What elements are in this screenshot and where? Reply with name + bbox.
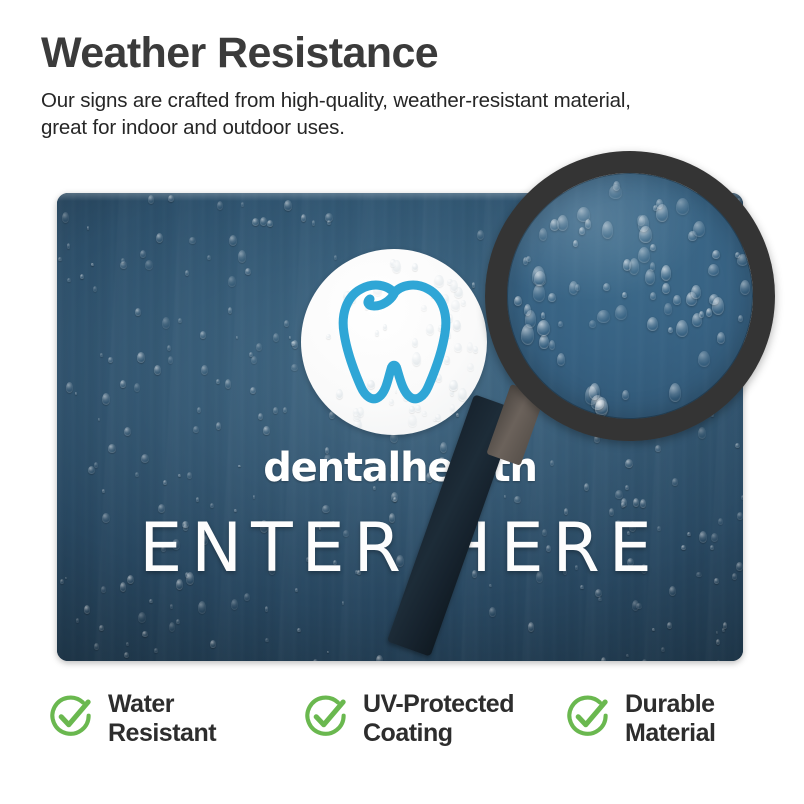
water-droplet — [392, 260, 401, 274]
feature-item-uv-protected-coating: UV-Protected Coating — [303, 690, 565, 747]
water-droplet — [473, 346, 478, 353]
header: Weather Resistance Our signs are crafted… — [41, 32, 741, 141]
check-circle-icon — [303, 693, 350, 740]
water-droplet — [422, 411, 427, 417]
feature-item-durable-material: Durable Material — [565, 690, 764, 747]
sign-message: ENTER HERE — [57, 515, 743, 583]
water-droplet — [408, 415, 417, 428]
check-circle-icon — [565, 693, 612, 740]
feature-list: Water Resistant UV-Protected Coating Dur… — [48, 690, 764, 747]
feature-label: Durable Material — [625, 690, 715, 747]
feature-label-line1: Water — [108, 690, 216, 719]
sign-top-sheen — [57, 193, 743, 201]
feature-label-line2: Coating — [363, 719, 514, 748]
brand-name: dentalhealth — [57, 448, 743, 488]
feature-label: UV-Protected Coating — [363, 690, 514, 747]
water-droplet — [412, 263, 419, 271]
check-circle-icon — [48, 693, 95, 740]
water-droplet — [390, 259, 396, 268]
sign-panel: dentalhealth ENTER HERE — [57, 193, 743, 661]
water-droplet — [467, 363, 474, 371]
water-droplet — [461, 300, 466, 306]
feature-label-line1: UV-Protected — [363, 690, 514, 719]
feature-label-line2: Material — [625, 719, 715, 748]
feature-item-water-resistant: Water Resistant — [48, 690, 303, 747]
water-droplet — [353, 412, 361, 421]
tooth-icon — [330, 275, 458, 409]
feature-label-line1: Durable — [625, 690, 715, 719]
weather-resistance-infographic: Weather Resistance Our signs are crafted… — [0, 0, 804, 804]
water-droplet — [613, 181, 620, 191]
page-title: Weather Resistance — [41, 32, 741, 75]
water-droplet — [435, 414, 441, 422]
feature-label: Water Resistant — [108, 690, 216, 747]
water-droplet — [458, 388, 467, 401]
feature-label-line2: Resistant — [108, 719, 216, 748]
water-droplet — [467, 342, 474, 352]
sign-photo: dentalhealth ENTER HERE — [57, 193, 743, 661]
page-subtitle: Our signs are crafted from high-quality,… — [41, 87, 666, 141]
water-droplet — [433, 417, 437, 421]
brand-logo-circle — [301, 249, 487, 435]
